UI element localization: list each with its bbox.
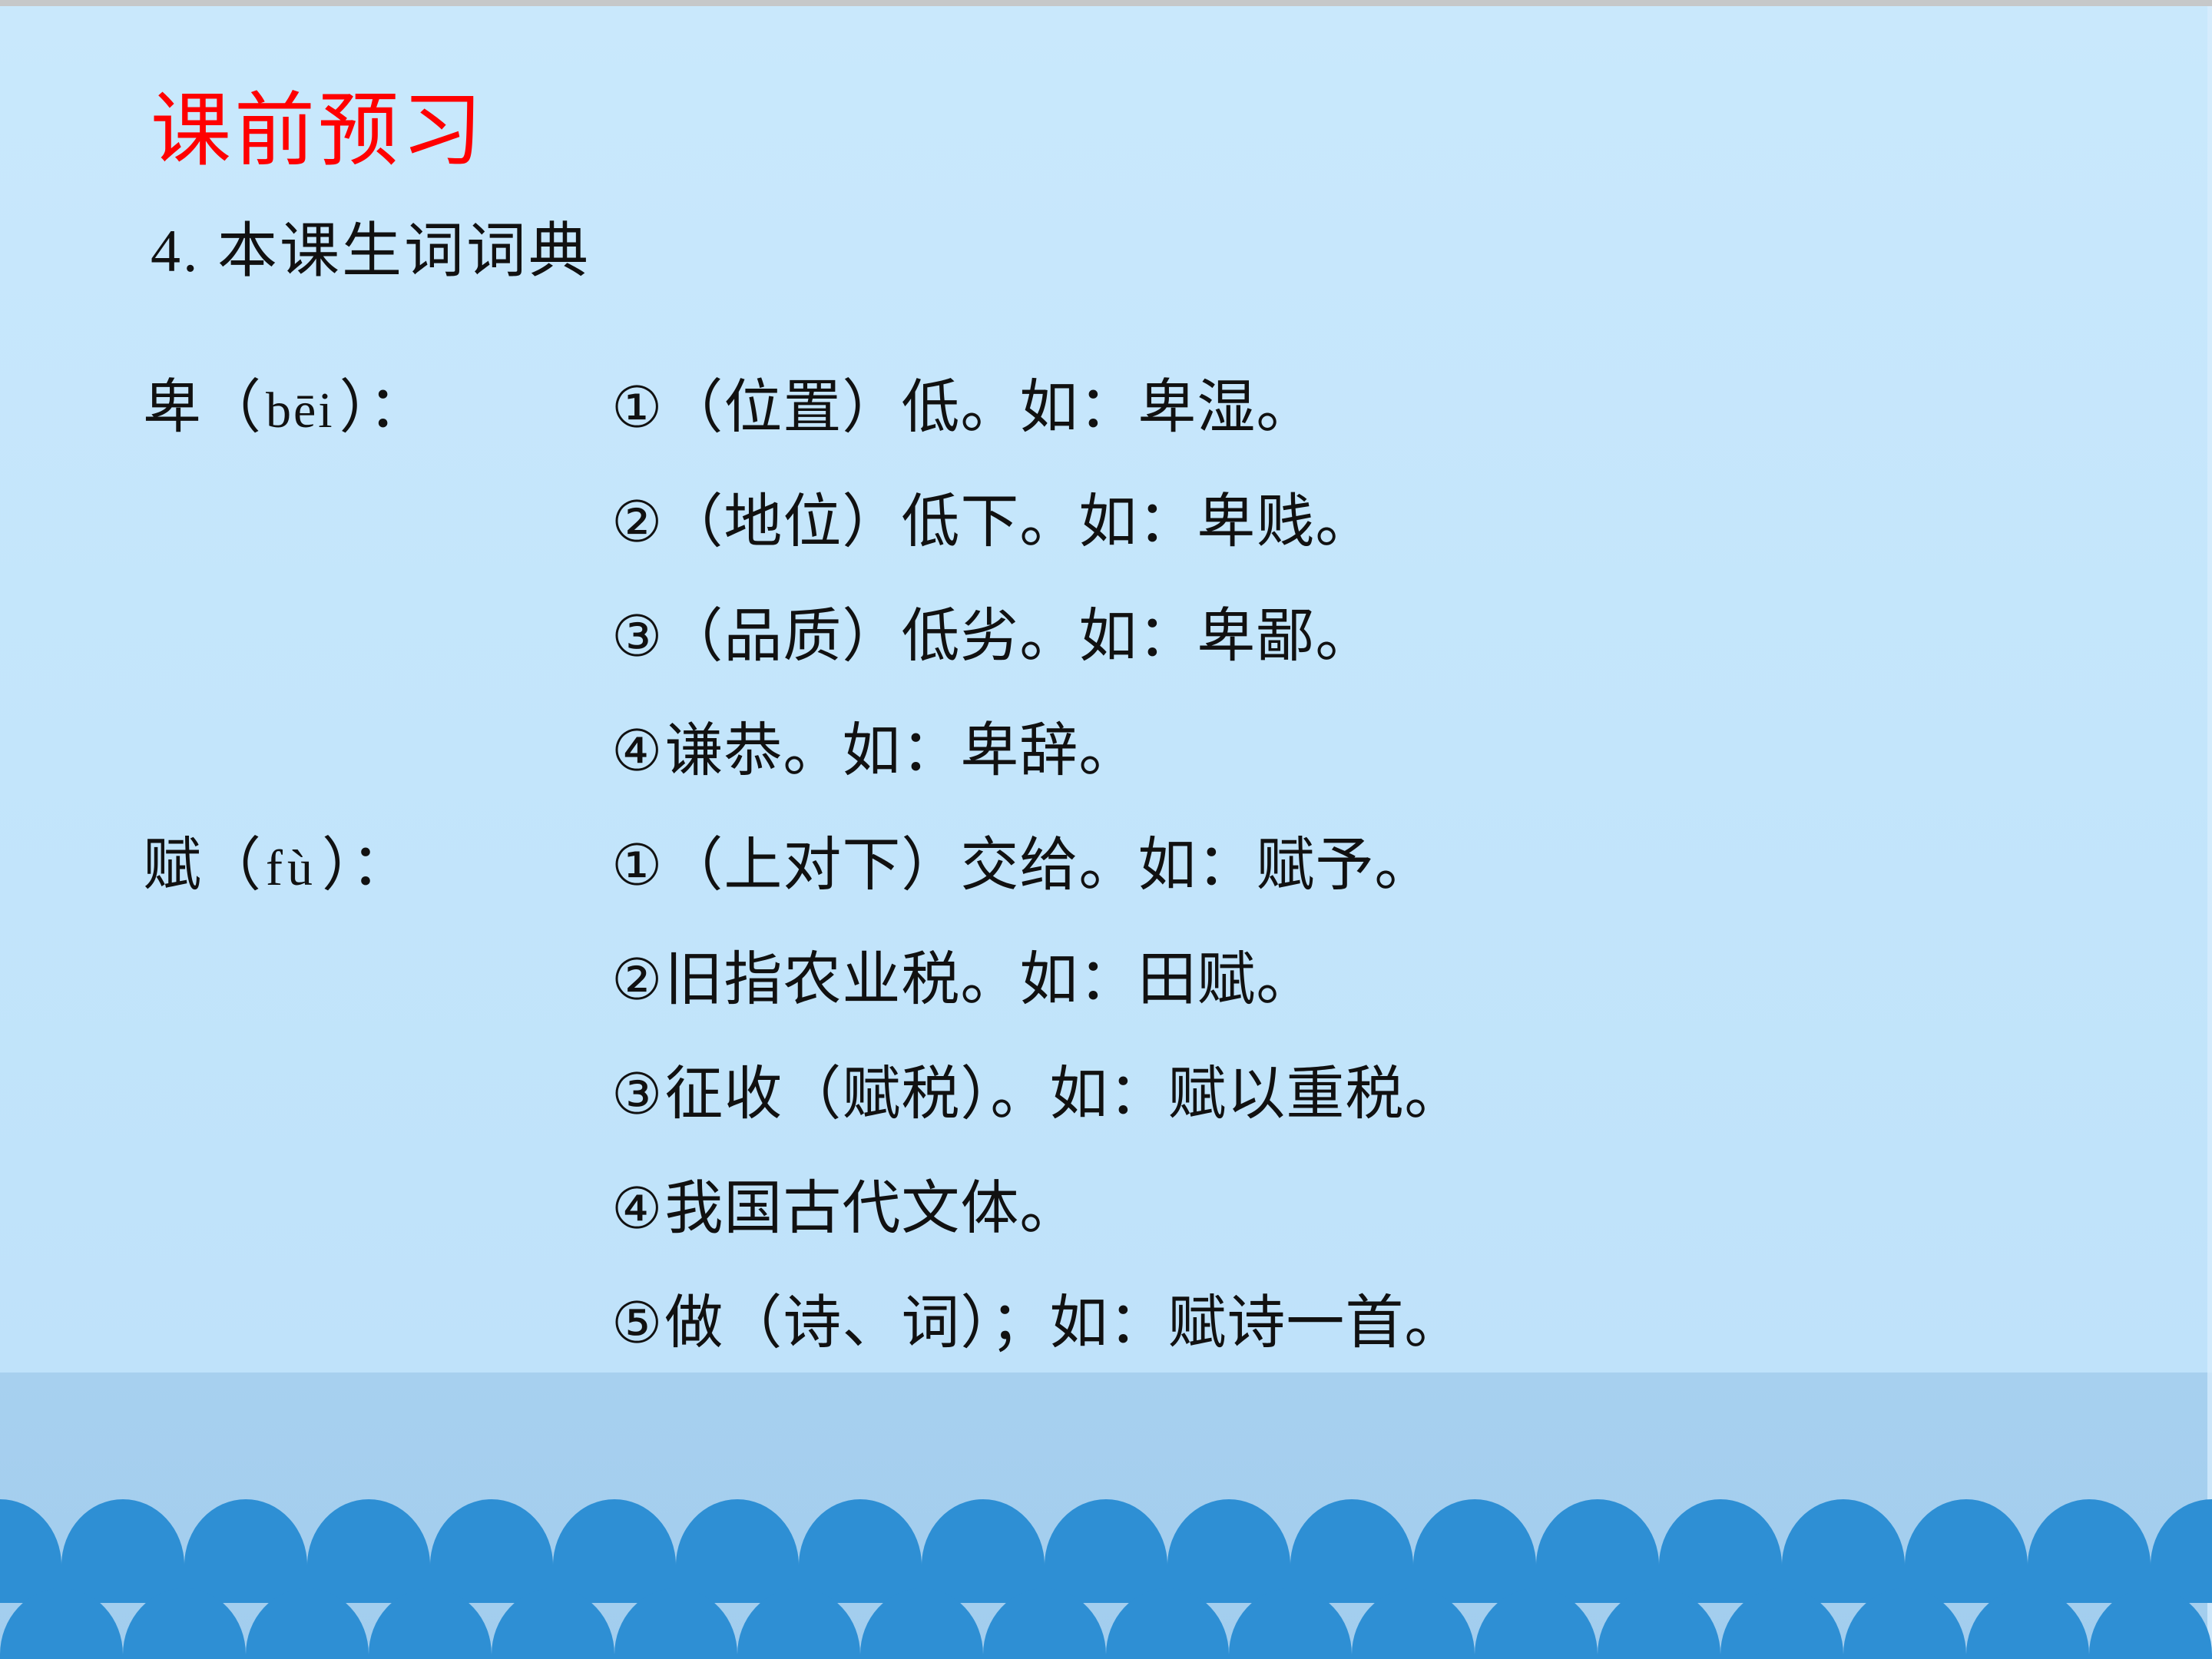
- sense-number-icon: ③: [611, 1061, 664, 1128]
- sense-text: 谦恭。如：卑辞。: [664, 719, 1137, 783]
- sense-text: （地位）低下。如：卑贱。: [664, 490, 1374, 555]
- slide-canvas: 课前预习 4. 本课生词词典 卑（bēi）： ①（位置）低。如：卑湿。 ②（地位…: [0, 0, 2212, 1659]
- entry-row: ④谦恭。如：卑辞。: [143, 703, 2140, 817]
- sense-text: 做（诗、词）；如：赋诗一首。: [664, 1291, 1463, 1356]
- headword-character: 卑: [143, 376, 203, 440]
- sense-number-icon: ②: [611, 489, 664, 555]
- sense-number-icon: ③: [611, 604, 664, 670]
- section-subtitle: 4. 本课生词词典: [151, 221, 591, 281]
- pinyin-reading: bēi: [261, 382, 339, 439]
- sense-definition: ④我国古代文体。: [611, 1161, 1078, 1245]
- paren-close: ）: [322, 833, 351, 898]
- entry-row: ③征收（赋税）。如：赋以重税。: [143, 1046, 2140, 1161]
- sense-number-icon: ④: [611, 718, 664, 784]
- entry-row: 卑（bēi）： ①（位置）低。如：卑湿。: [143, 359, 2140, 474]
- entry-row: ②旧指农业税。如：田赋。: [143, 932, 2140, 1046]
- sense-definition: ②旧指农业税。如：田赋。: [611, 932, 1315, 1016]
- sense-number-icon: ①: [611, 375, 664, 441]
- sense-definition: ⑤做（诗、词）；如：赋诗一首。: [611, 1275, 1463, 1359]
- sense-definition: ①（上对下）交给。如：赋予。: [611, 817, 1433, 902]
- sense-definition: ③征收（赋税）。如：赋以重税。: [611, 1046, 1463, 1131]
- headword-fu: 赋（fù）：: [143, 817, 611, 902]
- entry-row: ④我国古代文体。: [143, 1161, 2140, 1275]
- entry-row: ②（地位）低下。如：卑贱。: [143, 474, 2140, 588]
- dictionary-entry-list: 卑（bēi）： ①（位置）低。如：卑湿。 ②（地位）低下。如：卑贱。 ③（品质）…: [143, 359, 2140, 1389]
- paren-open: （: [203, 376, 261, 440]
- sense-text: 旧指农业税。如：田赋。: [664, 948, 1315, 1012]
- colon-mark: ：: [369, 376, 427, 440]
- entry-row: ③（品质）低劣。如：卑鄙。: [143, 588, 2140, 703]
- headword-bei: 卑（bēi）：: [143, 359, 611, 444]
- paren-close: ）: [339, 376, 369, 440]
- sense-number-icon: ⑤: [611, 1290, 664, 1356]
- sense-text: （品质）低劣。如：卑鄙。: [664, 604, 1374, 669]
- sense-number-icon: ①: [611, 833, 664, 899]
- sense-definition: ①（位置）低。如：卑湿。: [611, 359, 1315, 444]
- page-title: 课前预习: [151, 91, 485, 171]
- sense-number-icon: ②: [611, 947, 664, 1013]
- sense-text: 我国古代文体。: [664, 1177, 1078, 1241]
- entry-row: 赋（fù）： ①（上对下）交给。如：赋予。: [143, 817, 2140, 932]
- background-lower-panel: [0, 1373, 2212, 1659]
- sense-number-icon: ④: [611, 1176, 664, 1242]
- pinyin-reading: fù: [261, 840, 322, 896]
- sense-text: 征收（赋税）。如：赋以重税。: [664, 1062, 1463, 1127]
- sense-text: （上对下）交给。如：赋予。: [664, 833, 1433, 898]
- paren-open: （: [203, 833, 261, 898]
- colon-mark: ：: [351, 833, 409, 898]
- sense-definition: ②（地位）低下。如：卑贱。: [611, 474, 1374, 558]
- sense-definition: ④谦恭。如：卑辞。: [611, 703, 1137, 787]
- entry-row: ⑤做（诗、词）；如：赋诗一首。: [143, 1275, 2140, 1389]
- headword-character: 赋: [143, 833, 203, 898]
- sense-definition: ③（品质）低劣。如：卑鄙。: [611, 588, 1374, 673]
- sense-text: （位置）低。如：卑湿。: [664, 376, 1315, 440]
- right-edge-highlight: [2207, 6, 2212, 1659]
- top-border-bar: [0, 0, 2212, 6]
